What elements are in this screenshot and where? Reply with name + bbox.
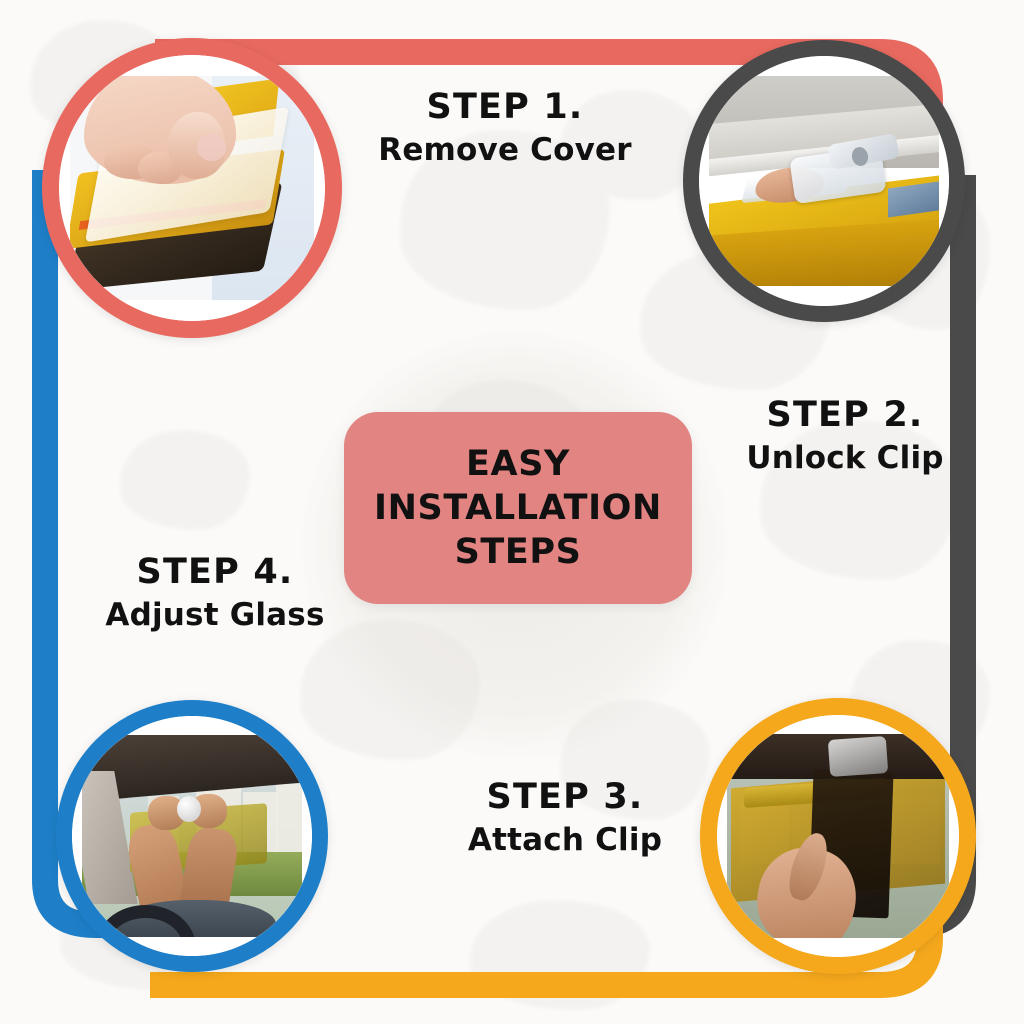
hand-attaching-clip-to-visor-icon: [717, 715, 959, 957]
step-4-description: Adjust Glass: [60, 598, 370, 633]
center-badge-text: EASY INSTALLATION STEPS: [374, 442, 662, 574]
step-1-label: STEP 1. Remove Cover: [340, 88, 670, 168]
step-3-circle[interactable]: [700, 698, 976, 974]
step-2-label: STEP 2. Unlock Clip: [700, 396, 990, 476]
step-3-description: Attach Clip: [430, 823, 700, 858]
step-3-number: STEP 3.: [430, 778, 700, 817]
step-1-circle[interactable]: [42, 38, 342, 338]
driver-adjusting-visor-glass-icon: [72, 716, 312, 956]
step-4-number: STEP 4.: [60, 553, 370, 592]
infographic-canvas: STEP 1. Remove Cover: [0, 0, 1024, 1024]
center-badge-line-1: EASY: [466, 444, 570, 484]
finger-pressing-clip-on-headliner-icon: [699, 56, 949, 306]
step-1-number: STEP 1.: [340, 88, 670, 127]
step-2-description: Unlock Clip: [700, 441, 990, 476]
hand-peeling-protective-film-icon: [59, 55, 325, 321]
center-badge-line-2: INSTALLATION: [374, 488, 662, 528]
center-badge: EASY INSTALLATION STEPS: [344, 412, 692, 604]
step-2-circle[interactable]: [683, 40, 965, 322]
step-2-number: STEP 2.: [700, 396, 990, 435]
step-3-label: STEP 3. Attach Clip: [430, 778, 700, 858]
step-4-circle[interactable]: [56, 700, 328, 972]
step-4-label: STEP 4. Adjust Glass: [60, 553, 370, 633]
step-1-description: Remove Cover: [340, 133, 670, 168]
center-badge-line-3: STEPS: [455, 532, 582, 572]
